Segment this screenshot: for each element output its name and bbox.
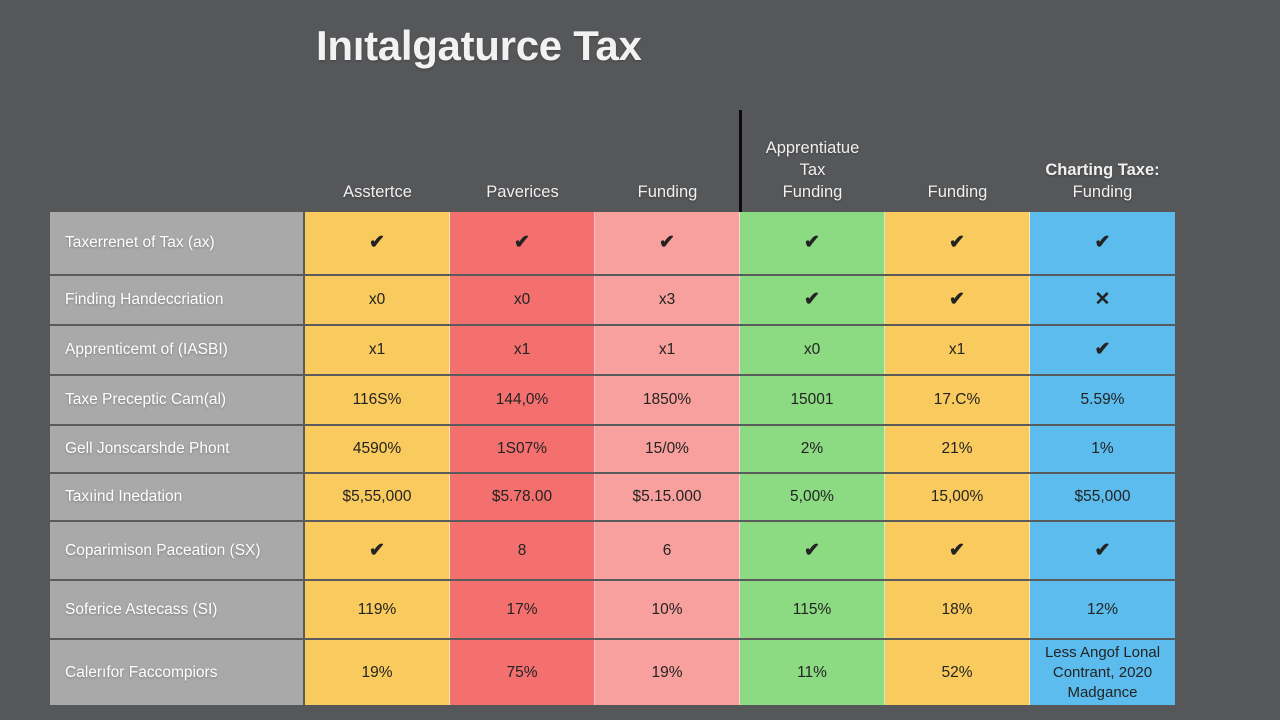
table-cell: 2% xyxy=(740,426,885,472)
table-cell: 116S% xyxy=(305,376,450,424)
table-header-row: Asstertce Paverices Funding Apprentiatue… xyxy=(50,110,1177,212)
row-label: Finding Handeccriation xyxy=(50,276,305,324)
cell-check-icon: ✔ xyxy=(740,522,885,579)
table-row: Finding Handeccriationx0x0x3✔✔✕ xyxy=(50,276,1177,326)
table-row: Taxıind Inedation$5,55,000$5.78.00$5.15.… xyxy=(50,474,1177,522)
column-header-4: Apprentiatue Tax Funding xyxy=(740,110,885,212)
table-cell: x0 xyxy=(450,276,595,324)
table-cell: Less Angof Lonal Contrant, 2020 Madgance xyxy=(1030,640,1175,705)
column-header-6-line-2: Funding xyxy=(1073,181,1133,203)
cell-check-icon: ✔ xyxy=(1030,522,1175,579)
row-label: Taxerrenet of Tax (ax) xyxy=(50,212,305,274)
table-cell: 17% xyxy=(450,581,595,638)
table-cell: 11% xyxy=(740,640,885,705)
table-row: Taxe Preceptic Cam(al)116S%144,0%1850%15… xyxy=(50,376,1177,426)
cell-check-icon: ✔ xyxy=(1030,326,1175,374)
table-cell: 15,00% xyxy=(885,474,1030,520)
column-header-3: Funding xyxy=(595,110,740,212)
column-header-5-line-1: Funding xyxy=(928,181,988,203)
column-header-4-line-1: Apprentiatue xyxy=(766,137,860,159)
table-row: Taxerrenet of Tax (ax)✔✔✔✔✔✔ xyxy=(50,212,1177,276)
column-header-6: Charting Taxe: Funding xyxy=(1030,110,1175,212)
table-cell: $5.78.00 xyxy=(450,474,595,520)
column-header-2: Paverices xyxy=(450,110,595,212)
cell-check-icon: ✔ xyxy=(1030,212,1175,274)
table-cell: 52% xyxy=(885,640,1030,705)
table-row: Coparimison Paceation (SX)✔86✔✔✔ xyxy=(50,522,1177,581)
cell-check-icon: ✔ xyxy=(885,522,1030,579)
column-header-6-line-1: Charting Taxe: xyxy=(1045,159,1159,181)
row-label: Soferice Astecass (SI) xyxy=(50,581,305,638)
table-cell: 75% xyxy=(450,640,595,705)
row-label: Apprenticemt of (IASBI) xyxy=(50,326,305,374)
table-cell: x0 xyxy=(740,326,885,374)
cell-check-icon: ✔ xyxy=(450,212,595,274)
cell-check-icon: ✔ xyxy=(885,212,1030,274)
table-cell: 12% xyxy=(1030,581,1175,638)
row-label: Taxıind Inedation xyxy=(50,474,305,520)
table-cell: x0 xyxy=(305,276,450,324)
row-label: Gell Jonscarshde Phont xyxy=(50,426,305,472)
cell-check-icon: ✔ xyxy=(885,276,1030,324)
table-cell: $5.15.000 xyxy=(595,474,740,520)
table-cell: x1 xyxy=(885,326,1030,374)
table-cell: 8 xyxy=(450,522,595,579)
page-title: Inıtalgaturce Tax xyxy=(316,22,642,70)
table-cell: x1 xyxy=(595,326,740,374)
comparison-table: Asstertce Paverices Funding Apprentiatue… xyxy=(50,110,1177,695)
table-cell: 18% xyxy=(885,581,1030,638)
cell-check-icon: ✔ xyxy=(595,212,740,274)
table-cell: 15001 xyxy=(740,376,885,424)
cell-check-icon: ✔ xyxy=(305,212,450,274)
cell-check-icon: ✔ xyxy=(740,276,885,324)
header-cell-blank xyxy=(50,110,305,212)
table-cell: 1% xyxy=(1030,426,1175,472)
table-cell: 19% xyxy=(305,640,450,705)
table-cell: $55,000 xyxy=(1030,474,1175,520)
column-header-1-line-1: Asstertce xyxy=(343,181,412,203)
cell-check-icon: ✔ xyxy=(305,522,450,579)
table-cell: 6 xyxy=(595,522,740,579)
table-cell: 15/0% xyxy=(595,426,740,472)
table-cell: 21% xyxy=(885,426,1030,472)
column-header-3-line-1: Funding xyxy=(638,181,698,203)
table-cell: 115% xyxy=(740,581,885,638)
cell-check-icon: ✔ xyxy=(740,212,885,274)
table-cell: 19% xyxy=(595,640,740,705)
table-cell: x3 xyxy=(595,276,740,324)
row-label: Taxe Preceptic Cam(al) xyxy=(50,376,305,424)
table-cell: 119% xyxy=(305,581,450,638)
column-header-1: Asstertce xyxy=(305,110,450,212)
table-cell: x1 xyxy=(450,326,595,374)
table-cell: 4590% xyxy=(305,426,450,472)
table-cell: 5,00% xyxy=(740,474,885,520)
column-header-4-line-3: Funding xyxy=(783,181,843,203)
table-cell: 5.59% xyxy=(1030,376,1175,424)
table-cell: 144,0% xyxy=(450,376,595,424)
column-header-2-line-1: Paverices xyxy=(486,181,558,203)
cell-check-icon: ✕ xyxy=(1030,276,1175,324)
table-cell: x1 xyxy=(305,326,450,374)
table-cell: 17.C% xyxy=(885,376,1030,424)
row-label: Calerıfor Faccompiors xyxy=(50,640,305,705)
table-row: Apprenticemt of (IASBI)x1x1x1x0x1✔ xyxy=(50,326,1177,376)
table-body: Taxerrenet of Tax (ax)✔✔✔✔✔✔Finding Hand… xyxy=(50,212,1177,705)
table-cell: $5,55,000 xyxy=(305,474,450,520)
column-header-5: Funding xyxy=(885,110,1030,212)
slide-canvas: Inıtalgaturce Tax Asstertce Paverices Fu… xyxy=(0,0,1280,720)
row-label: Coparimison Paceation (SX) xyxy=(50,522,305,579)
table-row: Soferice Astecass (SI)119%17%10%115%18%1… xyxy=(50,581,1177,640)
table-cell: 1S07% xyxy=(450,426,595,472)
table-row: Gell Jonscarshde Phont4590%1S07%15/0%2%2… xyxy=(50,426,1177,474)
column-header-4-line-2: Tax xyxy=(800,159,826,181)
table-cell: 1850% xyxy=(595,376,740,424)
table-cell: 10% xyxy=(595,581,740,638)
table-row: Calerıfor Faccompiors19%75%19%11%52%Less… xyxy=(50,640,1177,705)
